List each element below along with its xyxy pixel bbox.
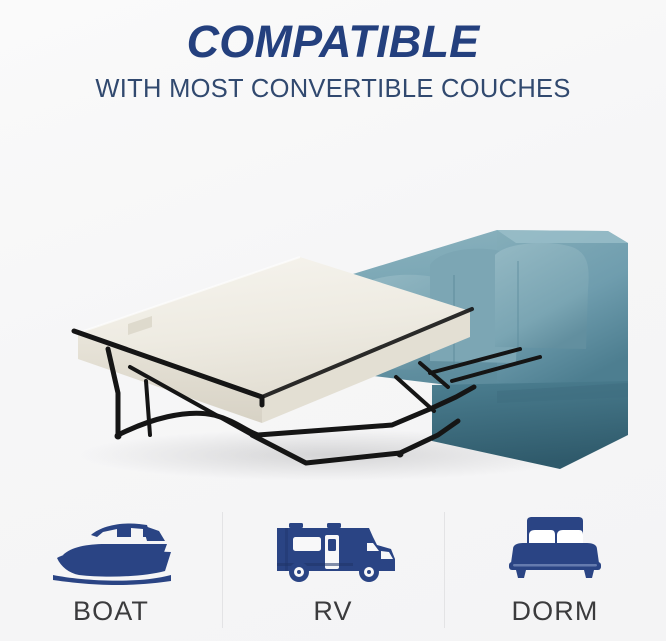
use-case-boat[interactable]: BOAT [0, 500, 222, 641]
hero-product-image [0, 135, 666, 495]
use-case-label-dorm: DORM [512, 598, 599, 625]
sleeper-sofa-illustration [0, 135, 666, 495]
rv-icon-glyph [269, 515, 397, 585]
use-case-label-boat: BOAT [73, 598, 149, 625]
boat-icon [47, 514, 175, 586]
bed-icon [491, 514, 619, 586]
use-case-row: BOAT [0, 500, 666, 641]
use-case-label-rv: RV [313, 598, 352, 625]
page-subtitle: WITH MOST CONVERTIBLE COUCHES [0, 77, 666, 103]
rv-icon [269, 514, 397, 586]
use-case-rv[interactable]: RV [222, 500, 444, 641]
infographic-page: COMPATIBLE WITH MOST CONVERTIBLE COUCHES [0, 0, 666, 641]
page-title: COMPATIBLE [0, 19, 666, 64]
header: COMPATIBLE WITH MOST CONVERTIBLE COUCHES [0, 0, 666, 103]
boat-icon-glyph [47, 515, 175, 585]
bed-icon-glyph [491, 515, 619, 585]
use-case-dorm[interactable]: DORM [444, 500, 666, 641]
